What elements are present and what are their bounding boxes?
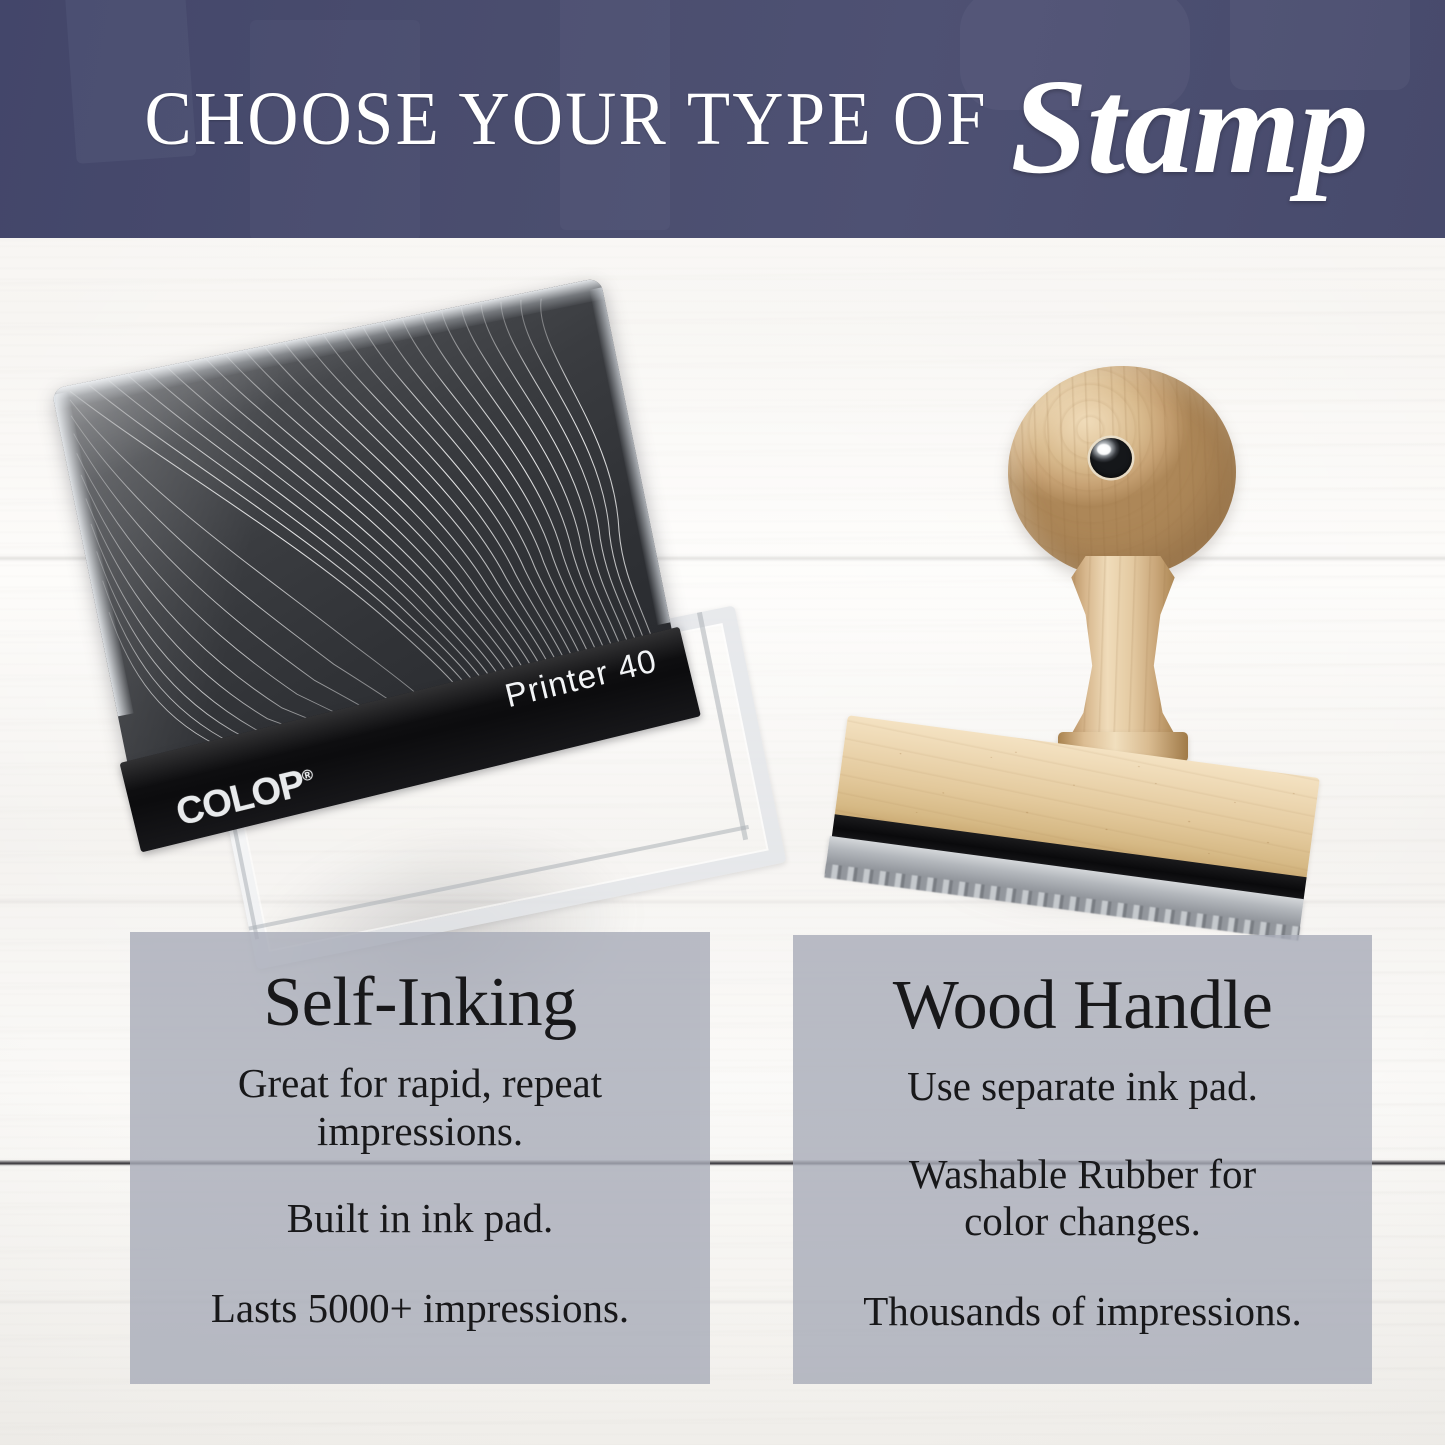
wood-handle-stamp-image bbox=[820, 360, 1380, 950]
panel-line: Washable Rubber for bbox=[883, 1151, 1282, 1199]
lid-gloss-streak bbox=[51, 277, 361, 785]
header-title-row: CHOOSE YOUR TYPE OF Stamp bbox=[0, 0, 1445, 238]
header-title-script: Stamp bbox=[1010, 59, 1367, 195]
panel-title: Self-Inking bbox=[263, 968, 576, 1038]
registered-mark: ® bbox=[300, 766, 315, 785]
stud-highlight bbox=[1097, 444, 1111, 455]
self-inking-info-panel: Self-Inking Great for rapid, repeat impr… bbox=[130, 932, 710, 1384]
panel-line: color changes. bbox=[938, 1198, 1227, 1246]
panel-line: impressions. bbox=[291, 1108, 549, 1156]
header-title-caps: CHOOSE YOUR TYPE OF bbox=[144, 81, 987, 157]
panel-line: Use separate ink pad. bbox=[881, 1063, 1284, 1111]
panel-line: Thousands of impressions. bbox=[837, 1288, 1327, 1336]
wood-neck bbox=[1068, 556, 1178, 752]
panel-line: Lasts 5000+ impressions. bbox=[185, 1285, 655, 1333]
self-inking-stamp-group: COLOP® Printer 40 bbox=[0, 203, 821, 1013]
metal-stud-icon bbox=[1090, 438, 1132, 478]
panel-line: Built in ink pad. bbox=[261, 1195, 580, 1243]
wood-handle-info-panel: Wood Handle Use separate ink pad. Washab… bbox=[793, 935, 1372, 1384]
infographic-canvas: CHOOSE YOUR TYPE OF Stamp bbox=[0, 0, 1445, 1445]
neck-grain bbox=[1068, 556, 1178, 752]
panel-line: Great for rapid, repeat bbox=[212, 1060, 628, 1108]
header-banner: CHOOSE YOUR TYPE OF Stamp bbox=[0, 0, 1445, 238]
self-inking-stamp-image: COLOP® Printer 40 bbox=[40, 268, 760, 948]
panel-title: Wood Handle bbox=[893, 971, 1273, 1041]
